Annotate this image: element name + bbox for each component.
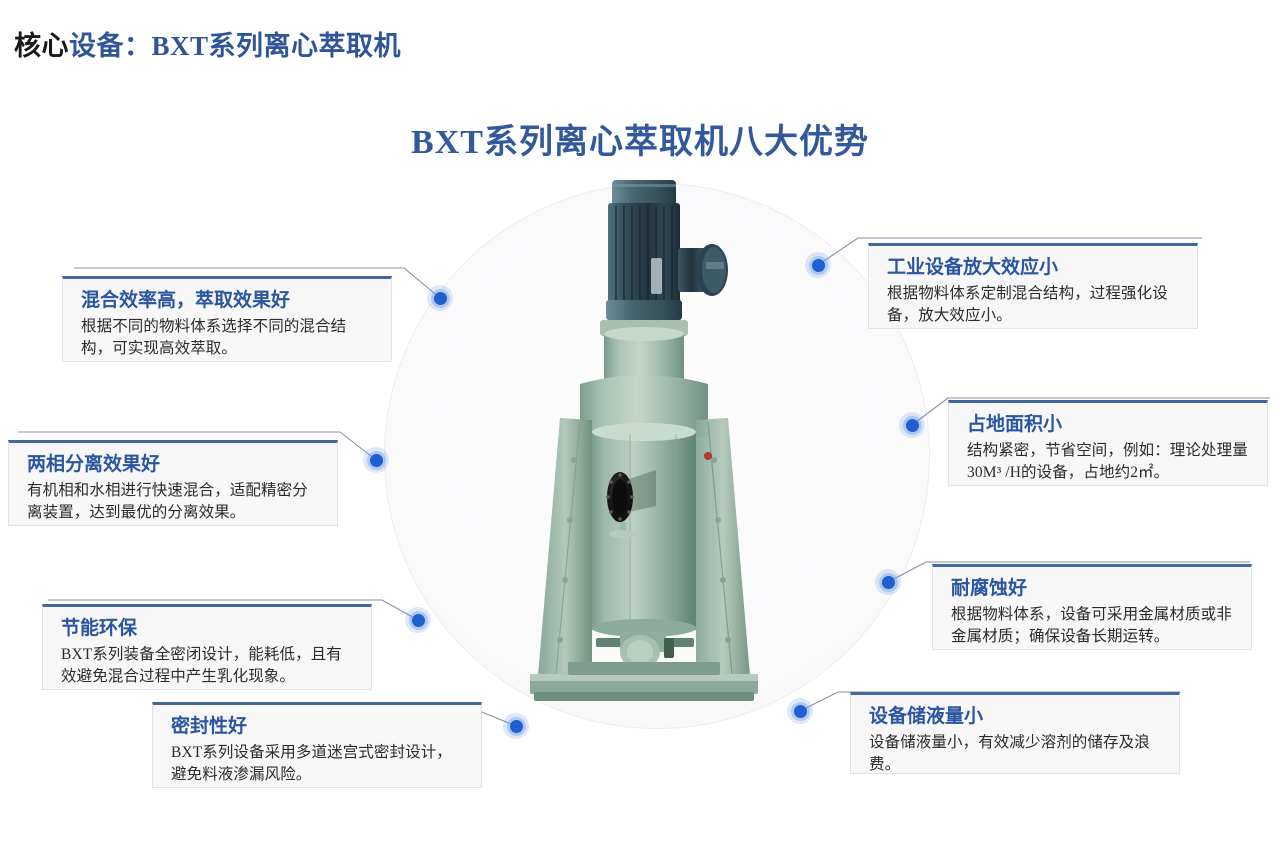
callout-body: BXT系列设备采用多道迷宫式密封设计，避免料液渗漏风险。 xyxy=(171,742,467,787)
callout-title: 两相分离效果好 xyxy=(27,452,323,478)
node-dot-corrosion[interactable] xyxy=(875,569,901,595)
callout-card-sealing[interactable]: 密封性好 BXT系列设备采用多道迷宫式密封设计，避免料液渗漏风险。 xyxy=(152,702,482,788)
callout-body: 根据物料体系定制混合结构，过程强化设备，放大效应小。 xyxy=(887,283,1183,328)
callout-body: BXT系列装备全密闭设计，能耗低，且有效避免混合过程中产生乳化现象。 xyxy=(61,644,357,689)
callout-body: 结构紧密，节省空间，例如：理论处理量30M³ /H的设备，占地约2㎡。 xyxy=(967,440,1253,485)
node-dot-scale-up[interactable] xyxy=(805,252,831,278)
callout-title: 节能环保 xyxy=(61,616,357,642)
callout-title: 工业设备放大效应小 xyxy=(887,255,1183,281)
callout-title: 密封性好 xyxy=(171,714,467,740)
node-dot-mixing-efficiency[interactable] xyxy=(427,285,453,311)
callout-card-mixing-efficiency[interactable]: 混合效率高，萃取效果好 根据不同的物料体系选择不同的混合结构，可实现高效萃取。 xyxy=(62,276,392,362)
callout-title: 设备储液量小 xyxy=(869,704,1165,730)
callout-card-scale-up[interactable]: 工业设备放大效应小 根据物料体系定制混合结构，过程强化设备，放大效应小。 xyxy=(868,243,1198,329)
callout-body: 根据物料体系，设备可采用金属材质或非金属材质；确保设备长期运转。 xyxy=(951,604,1237,649)
callout-title: 占地面积小 xyxy=(967,412,1253,438)
callout-title: 混合效率高，萃取效果好 xyxy=(81,288,377,314)
callout-card-low-holdup[interactable]: 设备储液量小 设备储液量小，有效减少溶剂的储存及浪费。 xyxy=(850,692,1180,774)
callout-card-corrosion-resistance[interactable]: 耐腐蚀好 根据物料体系，设备可采用金属材质或非金属材质；确保设备长期运转。 xyxy=(932,564,1252,650)
callout-card-energy-saving[interactable]: 节能环保 BXT系列装备全密闭设计，能耗低，且有效避免混合过程中产生乳化现象。 xyxy=(42,604,372,690)
callout-body: 设备储液量小，有效减少溶剂的储存及浪费。 xyxy=(869,732,1165,777)
callout-body: 有机相和水相进行快速混合，适配精密分离装置，达到最优的分离效果。 xyxy=(27,480,323,525)
advantages-infographic: 核心设备：BXT系列离心萃取机 BXT系列离心萃取机八大优势 xyxy=(0,0,1280,845)
callout-card-phase-separation[interactable]: 两相分离效果好 有机相和水相进行快速混合，适配精密分离装置，达到最优的分离效果。 xyxy=(8,440,338,526)
product-image xyxy=(508,170,798,725)
node-dot-footprint[interactable] xyxy=(899,412,925,438)
callout-body: 根据不同的物料体系选择不同的混合结构，可实现高效萃取。 xyxy=(81,316,377,361)
node-dot-energy-saving[interactable] xyxy=(405,607,431,633)
node-dot-phase-separation[interactable] xyxy=(363,447,389,473)
callout-card-footprint[interactable]: 占地面积小 结构紧密，节省空间，例如：理论处理量30M³ /H的设备，占地约2㎡… xyxy=(948,400,1268,486)
callout-title: 耐腐蚀好 xyxy=(951,576,1237,602)
